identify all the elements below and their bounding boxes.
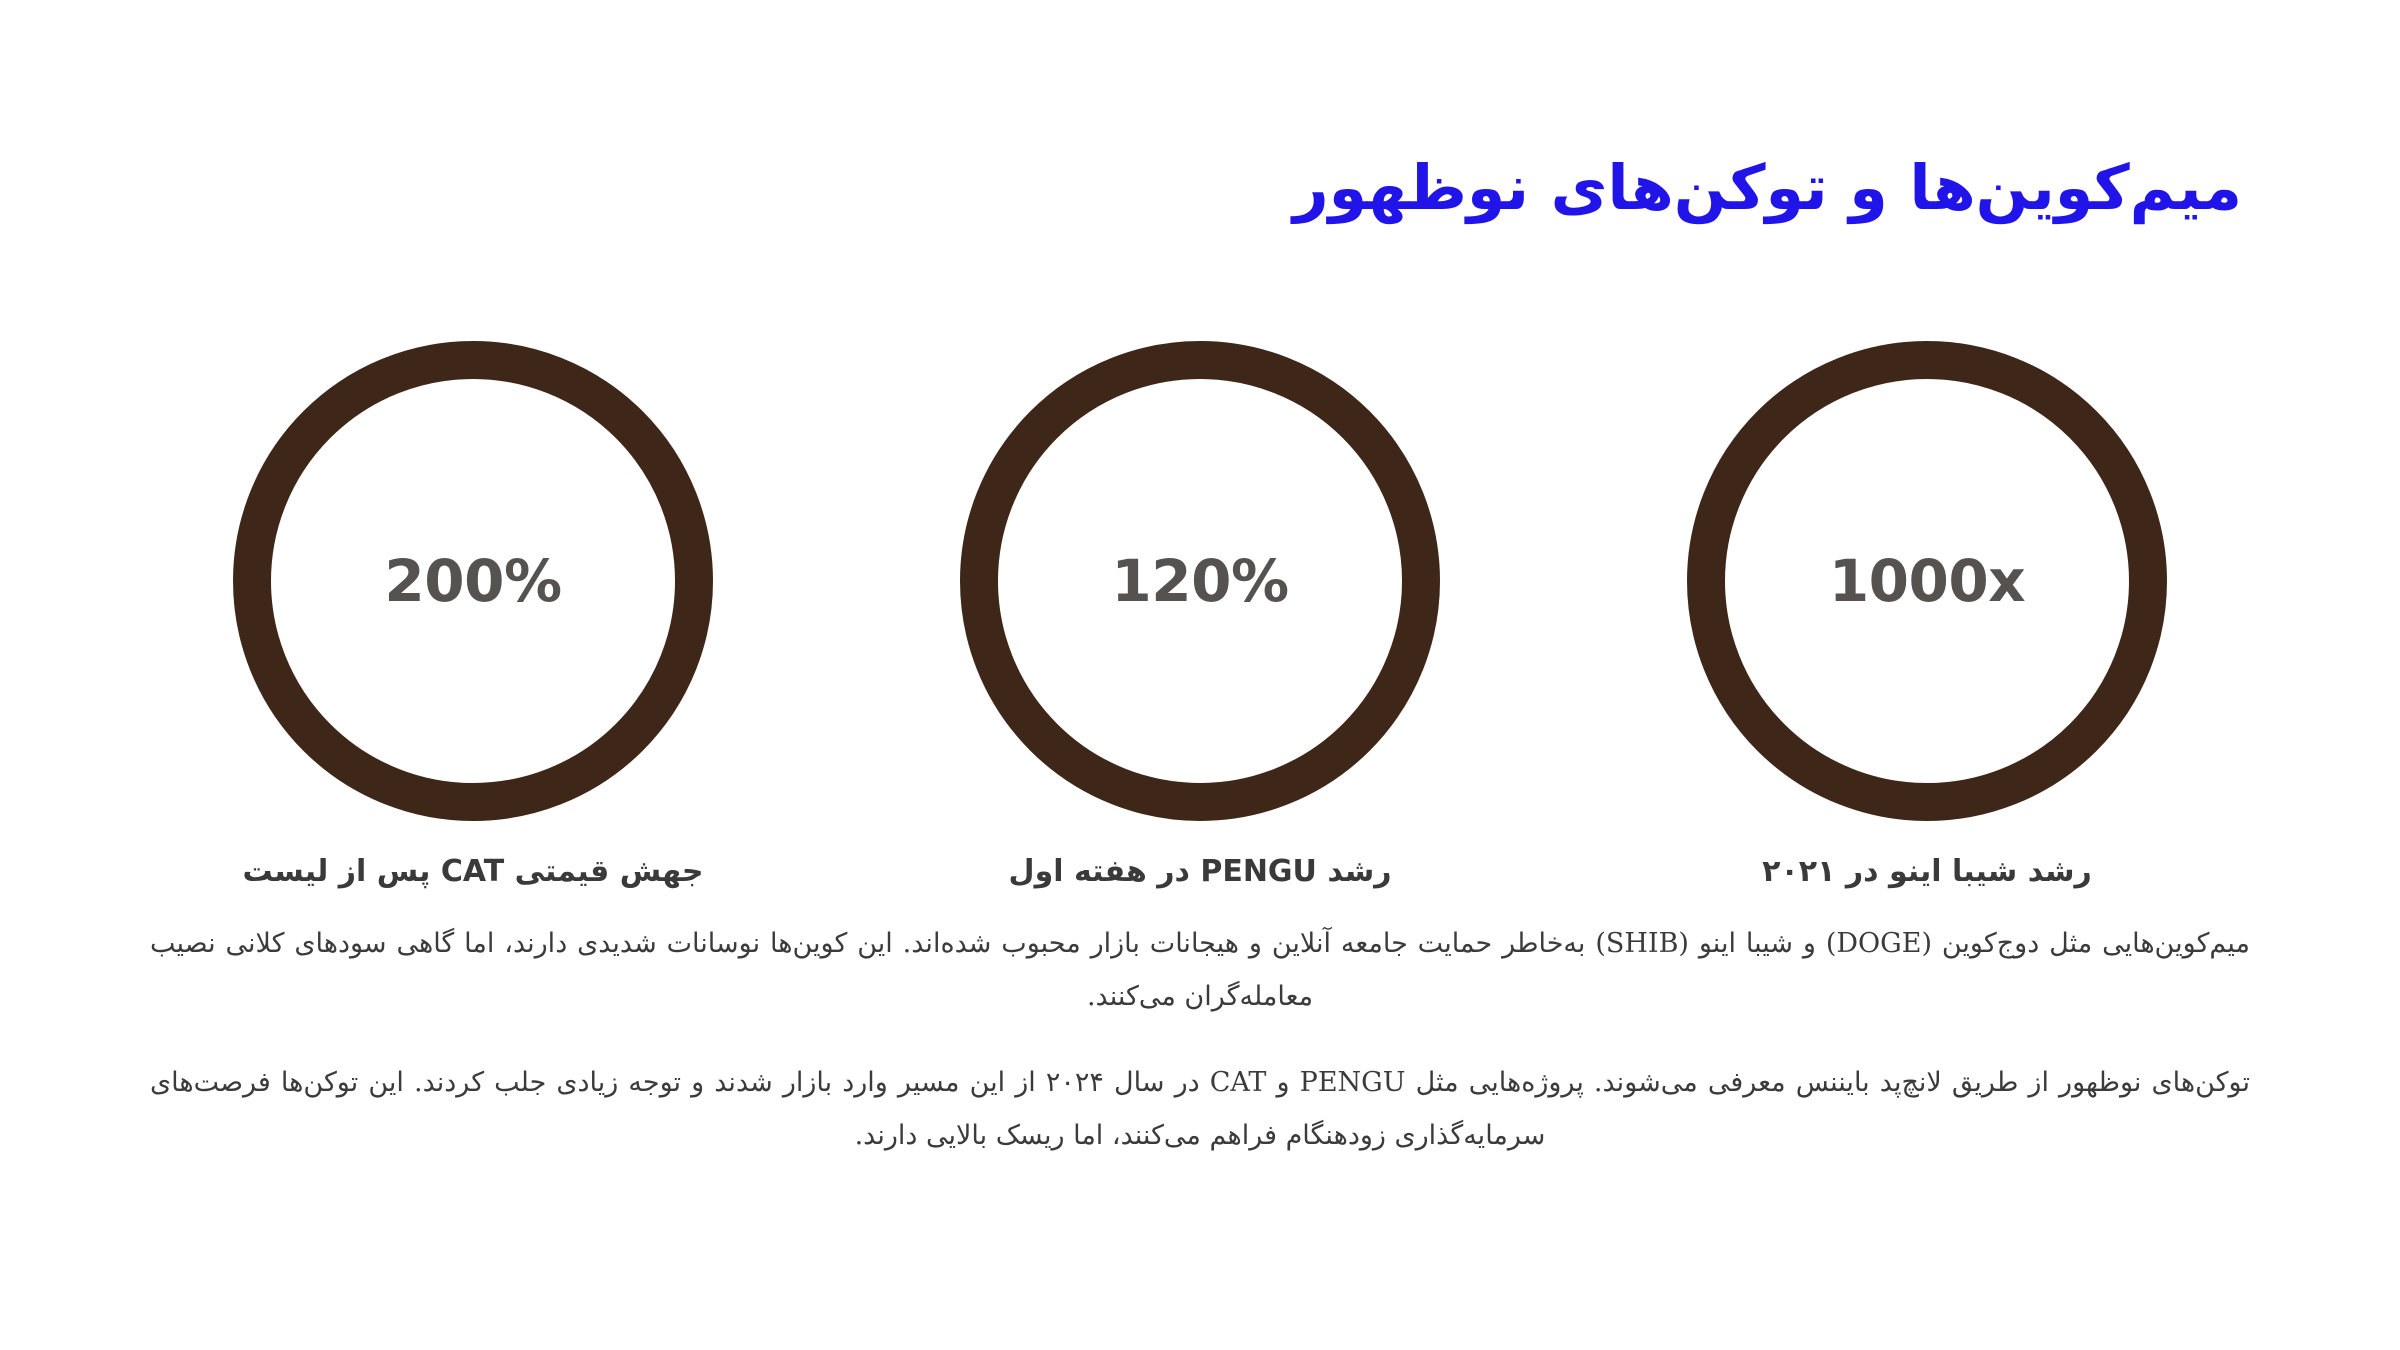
donut-ring-cat: 200% (233, 341, 713, 821)
page-title-container: میم‌کوین‌ها و توکن‌های نوظهور (0, 152, 2400, 223)
page-title: میم‌کوین‌ها و توکن‌های نوظهور (1293, 152, 2242, 223)
stats-row: 200% جهش قیمتی CAT پس از لیست 120% رشد P… (0, 341, 2400, 901)
body-paragraph-2: توکن‌های نوظهور از طریق لانچ‌پد بایننس م… (150, 1057, 2250, 1162)
stat-label-pengu: رشد PENGU در هفته اول (1009, 852, 1392, 891)
stat-label-cat: جهش قیمتی CAT پس از لیست (242, 852, 703, 891)
stat-item-shiba: 1000x رشد شیبا اینو در ۲۰۲۱ (1687, 341, 2167, 891)
donut-ring-pengu: 120% (960, 341, 1440, 821)
stat-value-shiba: 1000x (1687, 341, 2167, 821)
stat-value-pengu: 120% (960, 341, 1440, 821)
stat-item-pengu: 120% رشد PENGU در هفته اول (960, 341, 1440, 891)
body-paragraph-1: میم‌کوین‌هایی مثل دوج‌کوین (DOGE) و شیبا… (150, 918, 2250, 1023)
stat-value-cat: 200% (233, 341, 713, 821)
infographic-page: میم‌کوین‌ها و توکن‌های نوظهور 200% جهش ق… (0, 0, 2400, 1350)
stat-label-shiba: رشد شیبا اینو در ۲۰۲۱ (1762, 852, 2092, 891)
donut-ring-shiba: 1000x (1687, 341, 2167, 821)
stat-item-cat: 200% جهش قیمتی CAT پس از لیست (233, 341, 713, 891)
body-copy: میم‌کوین‌هایی مثل دوج‌کوین (DOGE) و شیبا… (150, 918, 2250, 1163)
